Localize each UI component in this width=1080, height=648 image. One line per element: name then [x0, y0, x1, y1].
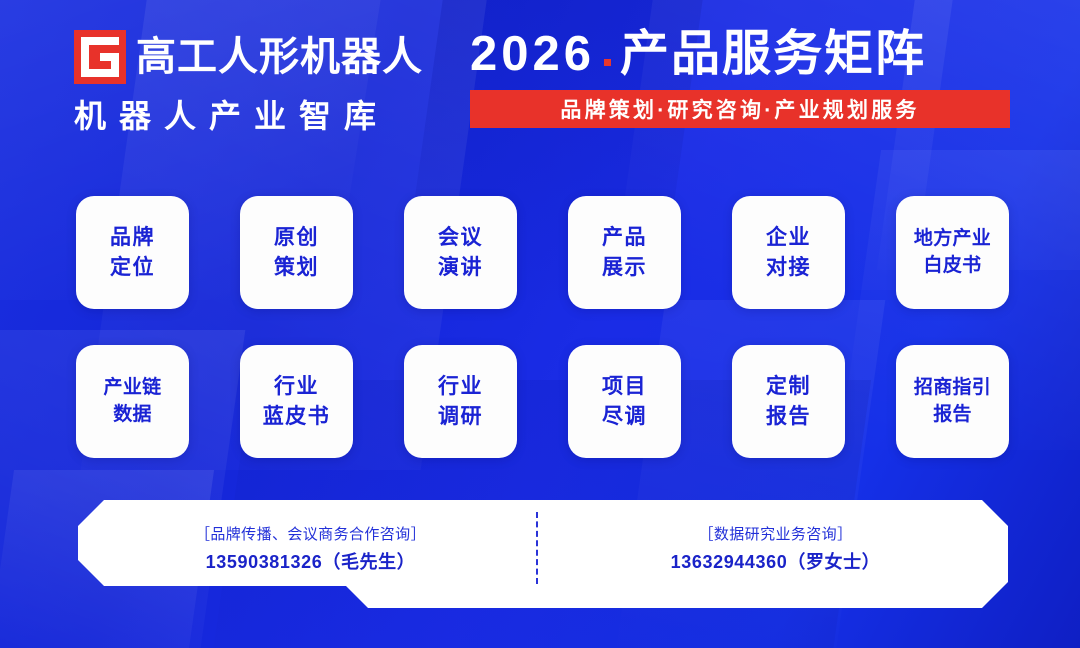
- contact-divider: [536, 512, 538, 584]
- card-line-1: 定制: [766, 372, 811, 402]
- contact-column-data: ［数据研究业务咨询］ 13632944360（罗女士）: [543, 500, 1008, 608]
- brand-row: 高工人形机器人: [74, 30, 424, 84]
- service-card[interactable]: 企业 对接: [732, 196, 845, 309]
- brand-name: 高工人形机器人: [136, 37, 423, 77]
- card-line-1: 会议: [438, 223, 483, 253]
- card-line-1: 产业链: [104, 375, 162, 402]
- title-banner: 品牌策划·研究咨询·产业规划服务: [470, 90, 1010, 128]
- card-line-2: 定位: [110, 253, 155, 283]
- service-card[interactable]: 地方产业 白皮书: [896, 196, 1009, 309]
- service-card[interactable]: 产品 展示: [568, 196, 681, 309]
- card-line-2: 蓝皮书: [263, 402, 331, 432]
- card-line-1: 企业: [766, 223, 811, 253]
- brand-subtitle: 机器人产业智库: [74, 100, 424, 132]
- service-card[interactable]: 产业链 数据: [76, 345, 189, 458]
- service-card[interactable]: 招商指引 报告: [896, 345, 1009, 458]
- contact-phone[interactable]: 13590381326（毛先生）: [206, 547, 416, 578]
- card-line-1: 项目: [602, 372, 647, 402]
- card-line-1: 行业: [274, 372, 319, 402]
- brand-block: 高工人形机器人 机器人产业智库: [74, 30, 424, 132]
- card-line-2: 报告: [933, 402, 972, 429]
- card-line-2: 尽调: [602, 402, 647, 432]
- card-line-2: 数据: [113, 402, 152, 429]
- card-line-1: 地方产业: [914, 226, 991, 253]
- card-line-2: 调研: [438, 402, 483, 432]
- title-separator-dot-icon: [604, 59, 611, 66]
- card-line-1: 原创: [274, 223, 319, 253]
- card-line-2: 报告: [766, 402, 811, 432]
- service-card[interactable]: 行业 调研: [404, 345, 517, 458]
- card-line-2: 白皮书: [924, 253, 982, 280]
- title-year: 2026: [470, 28, 595, 82]
- service-card[interactable]: 项目 尽调: [568, 345, 681, 458]
- contact-label: ［品牌传播、会议商务合作咨询］: [195, 523, 426, 547]
- service-card[interactable]: 原创 策划: [240, 196, 353, 309]
- card-line-1: 产品: [602, 223, 647, 253]
- contact-column-brand: ［品牌传播、会议商务合作咨询］ 13590381326（毛先生）: [78, 500, 543, 608]
- service-card-grid: 品牌 定位 原创 策划 会议 演讲 产品 展示 企业 对接 地方产业 白皮书 产…: [76, 196, 1012, 458]
- poster-header: 高工人形机器人 机器人产业智库 2026 产品服务矩阵 品牌策划·研究咨询·产业…: [0, 0, 1080, 160]
- poster-canvas: 高工人形机器人 机器人产业智库 2026 产品服务矩阵 品牌策划·研究咨询·产业…: [0, 0, 1080, 648]
- card-line-2: 展示: [602, 253, 647, 283]
- contact-panel: ［品牌传播、会议商务合作咨询］ 13590381326（毛先生） ［数据研究业务…: [78, 500, 1008, 608]
- title-block: 2026 产品服务矩阵 品牌策划·研究咨询·产业规划服务: [470, 28, 1015, 128]
- service-card[interactable]: 行业 蓝皮书: [240, 345, 353, 458]
- card-line-1: 品牌: [110, 223, 155, 253]
- service-card[interactable]: 会议 演讲: [404, 196, 517, 309]
- card-line-1: 行业: [438, 372, 483, 402]
- title-text: 产品服务矩阵: [620, 28, 926, 82]
- card-line-2: 策划: [274, 253, 319, 283]
- service-card[interactable]: 定制 报告: [732, 345, 845, 458]
- card-line-2: 对接: [766, 253, 811, 283]
- card-line-2: 演讲: [438, 253, 483, 283]
- gaogong-g-logo-icon: [74, 30, 126, 84]
- title-banner-text: 品牌策划·研究咨询·产业规划服务: [560, 94, 919, 124]
- contact-phone[interactable]: 13632944360（罗女士）: [671, 547, 881, 578]
- contact-label: ［数据研究业务咨询］: [698, 523, 852, 547]
- poster-title: 2026 产品服务矩阵: [470, 28, 1015, 82]
- service-card[interactable]: 品牌 定位: [76, 196, 189, 309]
- card-line-1: 招商指引: [914, 375, 991, 402]
